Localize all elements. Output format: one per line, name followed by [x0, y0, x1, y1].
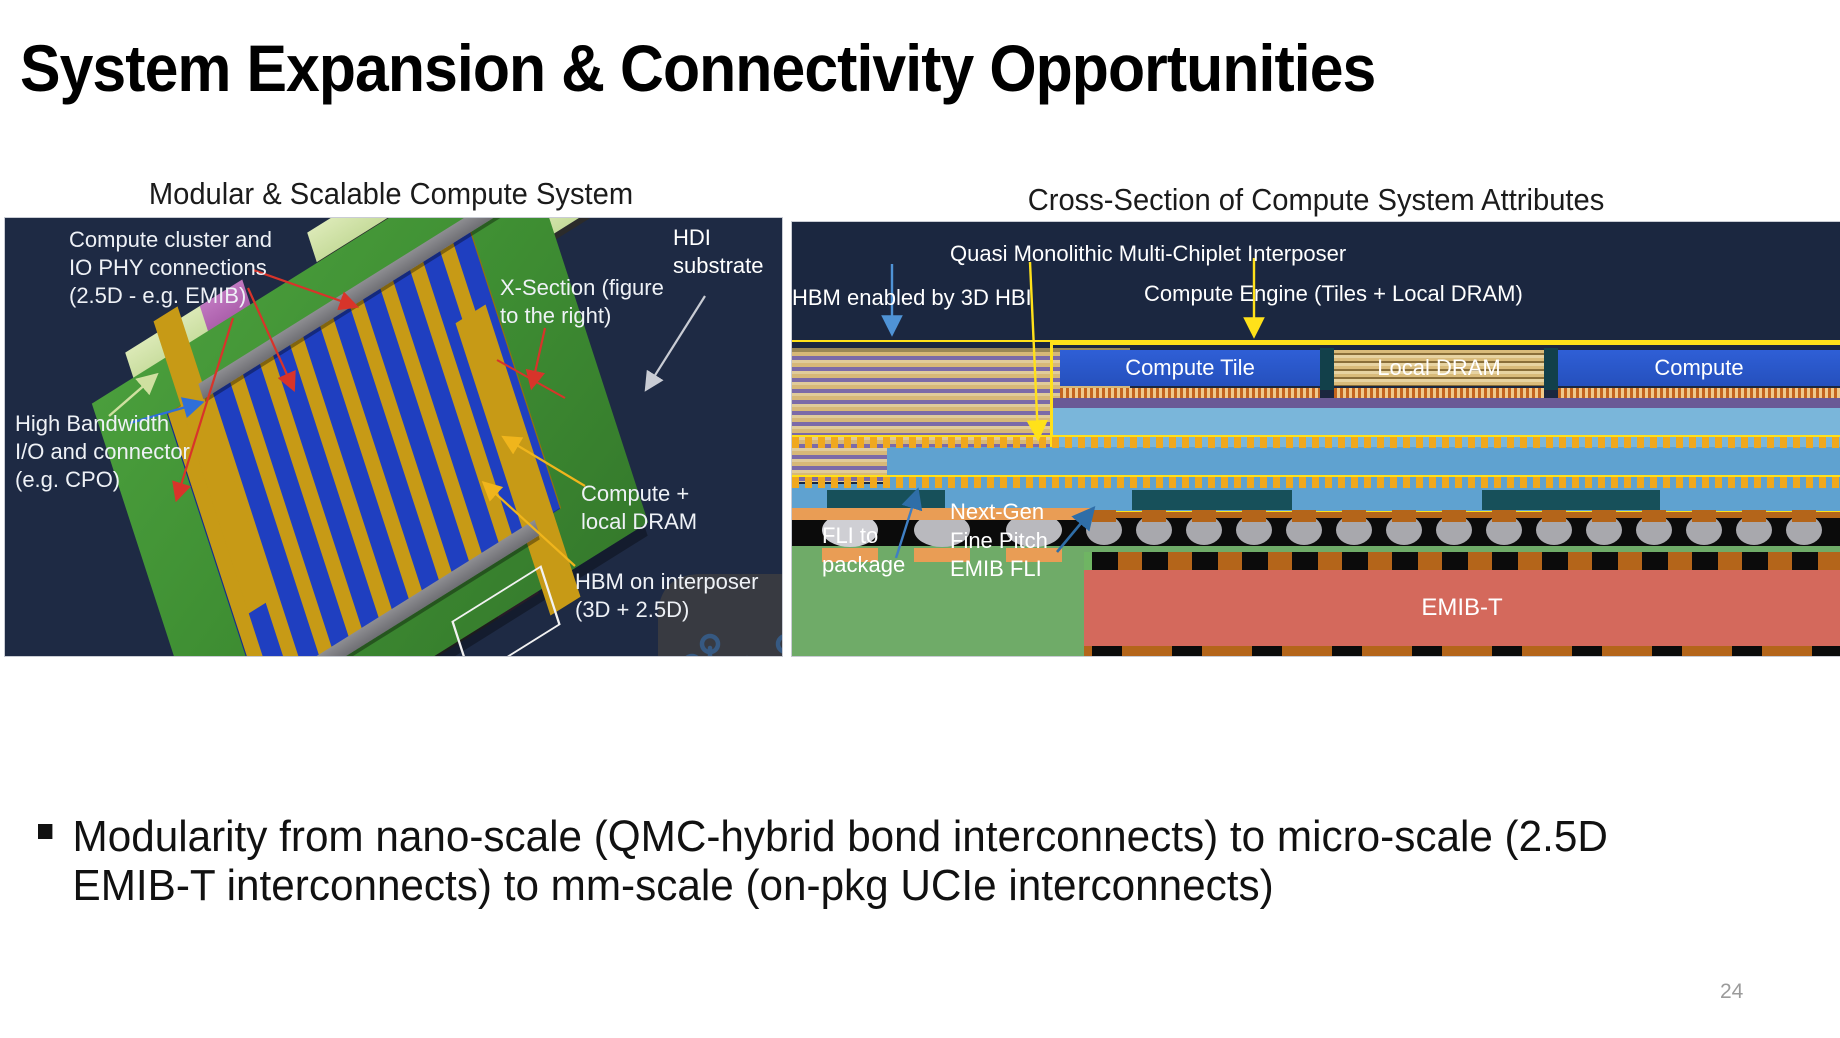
page-title: System Expansion & Connectivity Opportun… [20, 34, 1658, 103]
block-local-dram: Local DRAM [1334, 350, 1544, 386]
hbi-bond-layer [1558, 388, 1840, 398]
label-fli-to-package: FLI to package [822, 522, 905, 579]
bullet-marker-icon [38, 824, 52, 839]
bullet-point: Modularity from nano-scale (QMC-hybrid b… [38, 812, 1708, 911]
hairline-yellow [792, 475, 1840, 477]
tile-gap [1320, 348, 1334, 390]
cross-section-figure: Compute Tile Local DRAM Compute [792, 222, 1840, 656]
slide-root: System Expansion & Connectivity Opportun… [0, 0, 1840, 1038]
emib-t-block: EMIB-T [1084, 570, 1840, 646]
tile-underfill-layer [1053, 398, 1840, 408]
hairline-yellow [792, 340, 1840, 342]
hbi-bond-layer [1334, 388, 1544, 398]
hbi-bond-layer [1060, 388, 1320, 398]
label-compute-cluster: Compute cluster and IO PHY connections (… [69, 226, 272, 310]
tile-gap [1544, 348, 1558, 390]
page-number: 24 [1720, 980, 1743, 1004]
bullet-text: Modularity from nano-scale (QMC-hybrid b… [73, 812, 1709, 911]
teal-pad [827, 490, 945, 510]
hairline-yellow [792, 435, 1840, 437]
modular-compute-system-figure: semianalysis Compute cluster and IO PHY … [5, 218, 782, 656]
label-hdi-substrate: HDI substrate [673, 224, 764, 280]
teal-pad [1132, 490, 1292, 510]
block-compute-tile-2: Compute [1558, 350, 1840, 386]
label-high-bandwidth: High Bandwidth I/O and connector (e.g. C… [15, 410, 190, 494]
block-compute-tile-1: Compute Tile [1060, 350, 1320, 386]
label-compute-engine: Compute Engine (Tiles + Local DRAM) [1144, 280, 1523, 309]
label-next-gen-emib-fli: Next-Gen Fine Pitch EMIB FLI [950, 498, 1048, 584]
left-panel-caption: Modular & Scalable Compute System [23, 176, 758, 212]
label-hbm-enabled-3d-hbi: HBM enabled by 3D HBI [792, 284, 1032, 313]
label-compute-local-dram: Compute + local DRAM [581, 480, 697, 536]
label-x-section: X-Section (figure to the right) [500, 274, 664, 330]
teal-pad [1482, 490, 1660, 510]
label-hbm-on-interposer: HBM on interposer (3D + 2.5D) [575, 568, 758, 624]
label-quasi-monolithic-interposer: Quasi Monolithic Multi-Chiplet Interpose… [950, 240, 1346, 269]
right-panel-caption: Cross-Section of Compute System Attribut… [823, 182, 1808, 218]
microbump-row-upper [792, 437, 1840, 448]
microbump-row-lower [792, 477, 1840, 488]
